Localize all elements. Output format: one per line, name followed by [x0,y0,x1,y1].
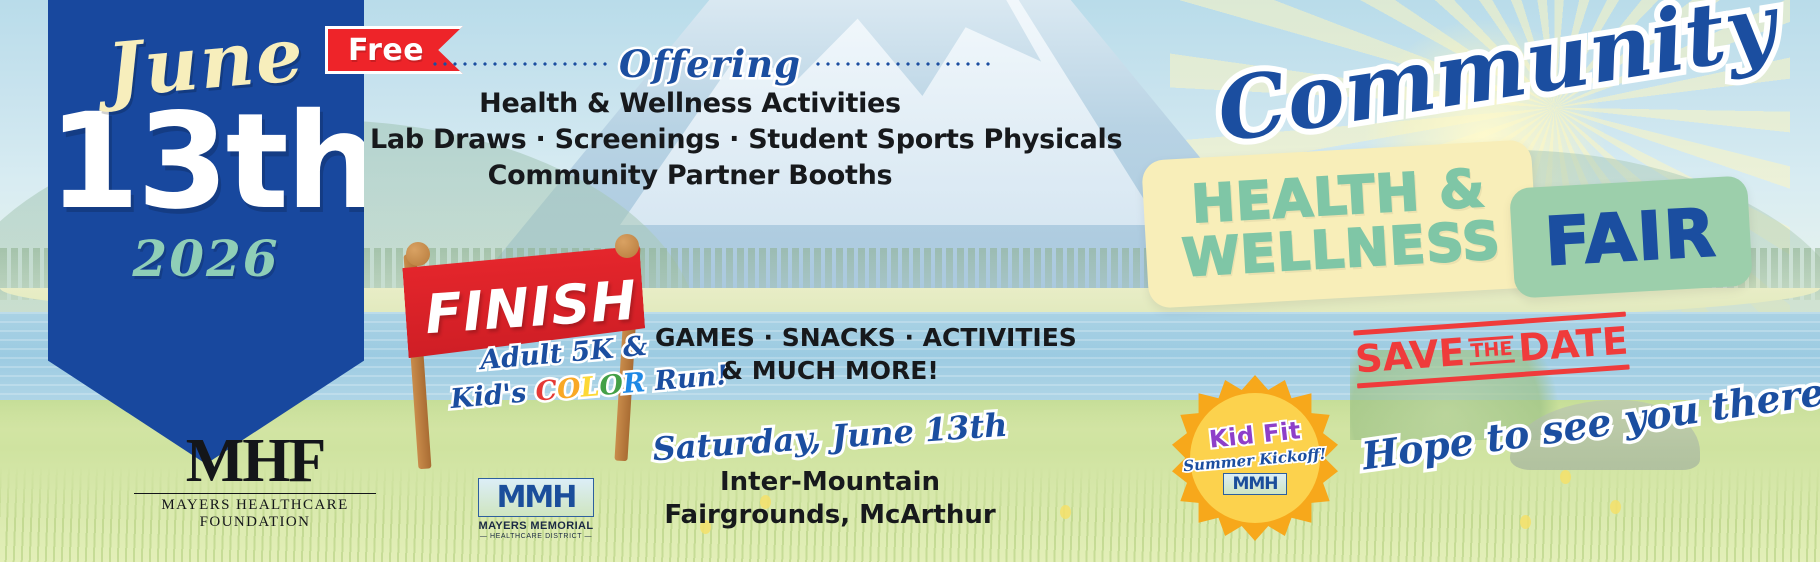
flag-pole-knob-left [406,242,430,266]
activities-line-2: & MUCH MORE! [655,355,1005,388]
mayers-memorial-logo: MMH MAYERS MEMORIAL — HEALTHCARE DISTRIC… [478,478,594,540]
event-venue: Inter-Mountain Fairgrounds, McArthur [655,466,1005,533]
offering-heading: Offering [619,42,801,86]
dotted-rule-right [813,62,990,66]
mmh-monogram: MMH [479,483,593,513]
mmh-organization-name: MAYERS MEMORIAL [478,520,594,532]
mmh-logo-box: MMH [478,478,594,517]
activities-line-1: GAMES · SNACKS · ACTIVITIES [655,322,1005,355]
offering-item: Community Partner Booths [370,158,1010,194]
offering-item: Health & Wellness Activities [370,86,1010,122]
fair-label: FAIR [1543,194,1719,280]
flower-petal [1060,505,1071,519]
mhf-organization-name: MAYERS HEALTHCARE FOUNDATION [130,497,380,531]
dotted-rule-left [430,62,607,66]
color-letter: C [534,375,558,408]
color-letter: O [598,369,624,402]
kid-fit-badge-inner: Kid Fit Summer Kickoff! MMH [1190,393,1320,523]
flower-petal [1610,500,1621,514]
kid-fit-badge: Kid Fit Summer Kickoff! MMH [1172,375,1338,541]
offering-list: Health & Wellness Activities Lab Draws ·… [370,86,1010,195]
center-activities: GAMES · SNACKS · ACTIVITIES & MUCH MORE! [655,322,1005,387]
wellness-label: WELLNESS [1181,215,1502,286]
free-badge-label: Free [348,33,424,68]
mayers-healthcare-foundation-logo: MHF MAYERS HEALTHCARE FOUNDATION [130,432,380,531]
flag-pole-knob-right [615,234,639,258]
date-word: DATE [1517,319,1630,371]
venue-line-2: Fairgrounds, McArthur [655,499,1005,532]
health-wellness-card: HEALTH & WELLNESS [1141,139,1539,309]
save-word: SAVE [1354,330,1466,382]
event-banner: June 13th 2026 MHF MAYERS HEALTHCARE FOU… [0,0,1820,562]
ribbon-day: 13th [48,100,364,225]
flower-petal [1560,470,1571,484]
fair-card: FAIR [1509,175,1753,298]
color-letter: O [556,373,582,406]
mmh-organization-sub: — HEALTHCARE DISTRICT — [478,533,594,540]
offering-item: Lab Draws · Screenings · Student Sports … [370,122,1010,158]
color-letter: R [622,367,647,400]
mhf-monogram: MHF [130,432,380,491]
kid-fit-mmh-logo: MMH [1223,473,1286,496]
offering-heading-row: Offering [430,42,990,86]
flower-petal [1520,515,1531,529]
the-word: THE [1468,335,1516,365]
venue-line-1: Inter-Mountain [655,466,1005,499]
